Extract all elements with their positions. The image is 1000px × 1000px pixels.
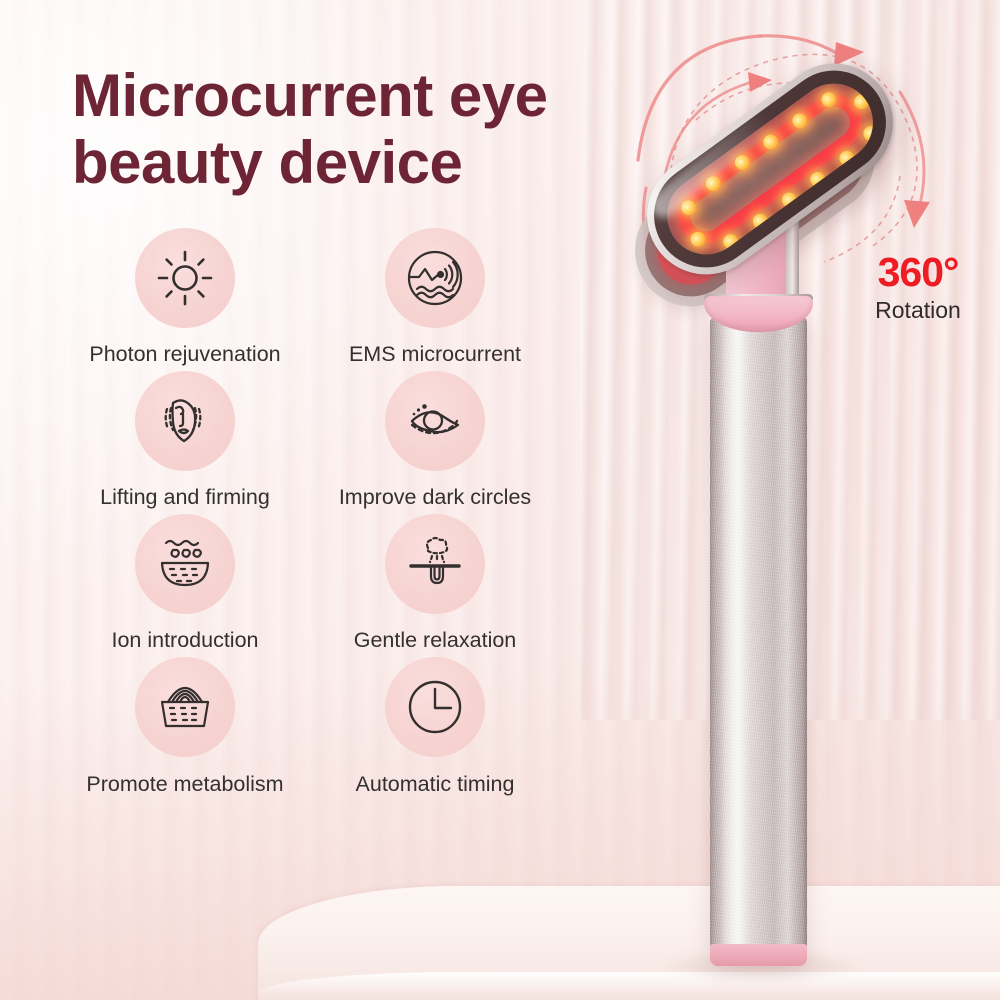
page-title: Microcurrent eye beauty device [72, 62, 632, 196]
feature-row: Lifting and firming Im [60, 371, 560, 510]
feature-item-improve-dark-circles[interactable]: Improve dark circles [310, 371, 560, 510]
skin-waves-icon [154, 678, 216, 736]
feature-label: Promote metabolism [86, 772, 283, 797]
ion-bowl-droplets-icon [154, 536, 216, 592]
feature-item-lifting-and-firming[interactable]: Lifting and firming [60, 371, 310, 510]
feature-label: Improve dark circles [339, 485, 531, 510]
clock-icon [406, 678, 464, 736]
feature-badge [385, 657, 485, 757]
feature-label: Photon rejuvenation [89, 342, 280, 367]
feature-item-gentle-relaxation[interactable]: Gentle relaxation [310, 514, 560, 653]
feature-row: Ion introduction [60, 514, 560, 653]
rotation-word-label: Rotation [843, 299, 993, 322]
feature-label: Gentle relaxation [354, 628, 517, 653]
feature-badge [385, 514, 485, 614]
feature-item-promote-metabolism[interactable]: Promote metabolism [60, 657, 310, 797]
feature-badge [135, 657, 235, 757]
feature-item-automatic-timing[interactable]: Automatic timing [310, 657, 560, 797]
product-device-image: 360° Rotation [600, 0, 1000, 1000]
feature-row: Promote metabolism Automatic timing [60, 657, 560, 797]
product-poster: Microcurrent eye beauty device [0, 0, 1000, 1000]
feature-badge [135, 514, 235, 614]
page-title-line-1: Microcurrent eye [72, 62, 632, 129]
feature-label: Lifting and firming [100, 485, 270, 510]
feature-row: Photon rejuvenation [60, 228, 560, 367]
feature-item-photon-rejuvenation[interactable]: Photon rejuvenation [60, 228, 310, 367]
pore-steam-icon [405, 535, 465, 593]
feature-item-ion-introduction[interactable]: Ion introduction [60, 514, 310, 653]
feature-badge [385, 228, 485, 328]
page-title-line-2: beauty device [72, 129, 632, 196]
led-head-assembly [626, 52, 912, 282]
handle-base [710, 944, 807, 966]
feature-label: Automatic timing [356, 772, 515, 797]
feature-badge [385, 371, 485, 471]
face-lift-icon [155, 391, 215, 451]
rotation-callout: 360° Rotation [843, 252, 993, 322]
rotation-degrees-label: 360° [843, 252, 993, 293]
feature-grid: Photon rejuvenation [60, 228, 560, 801]
feature-badge [135, 371, 235, 471]
feature-badge [135, 228, 235, 328]
eye-icon [404, 394, 466, 448]
feature-item-ems-microcurrent[interactable]: EMS microcurrent [310, 228, 560, 367]
ems-wave-icon [405, 248, 465, 308]
device-handle [710, 316, 807, 960]
feature-label: Ion introduction [111, 628, 258, 653]
handle-highlight [724, 316, 749, 960]
feature-label: EMS microcurrent [349, 342, 521, 367]
sun-icon [156, 249, 214, 307]
